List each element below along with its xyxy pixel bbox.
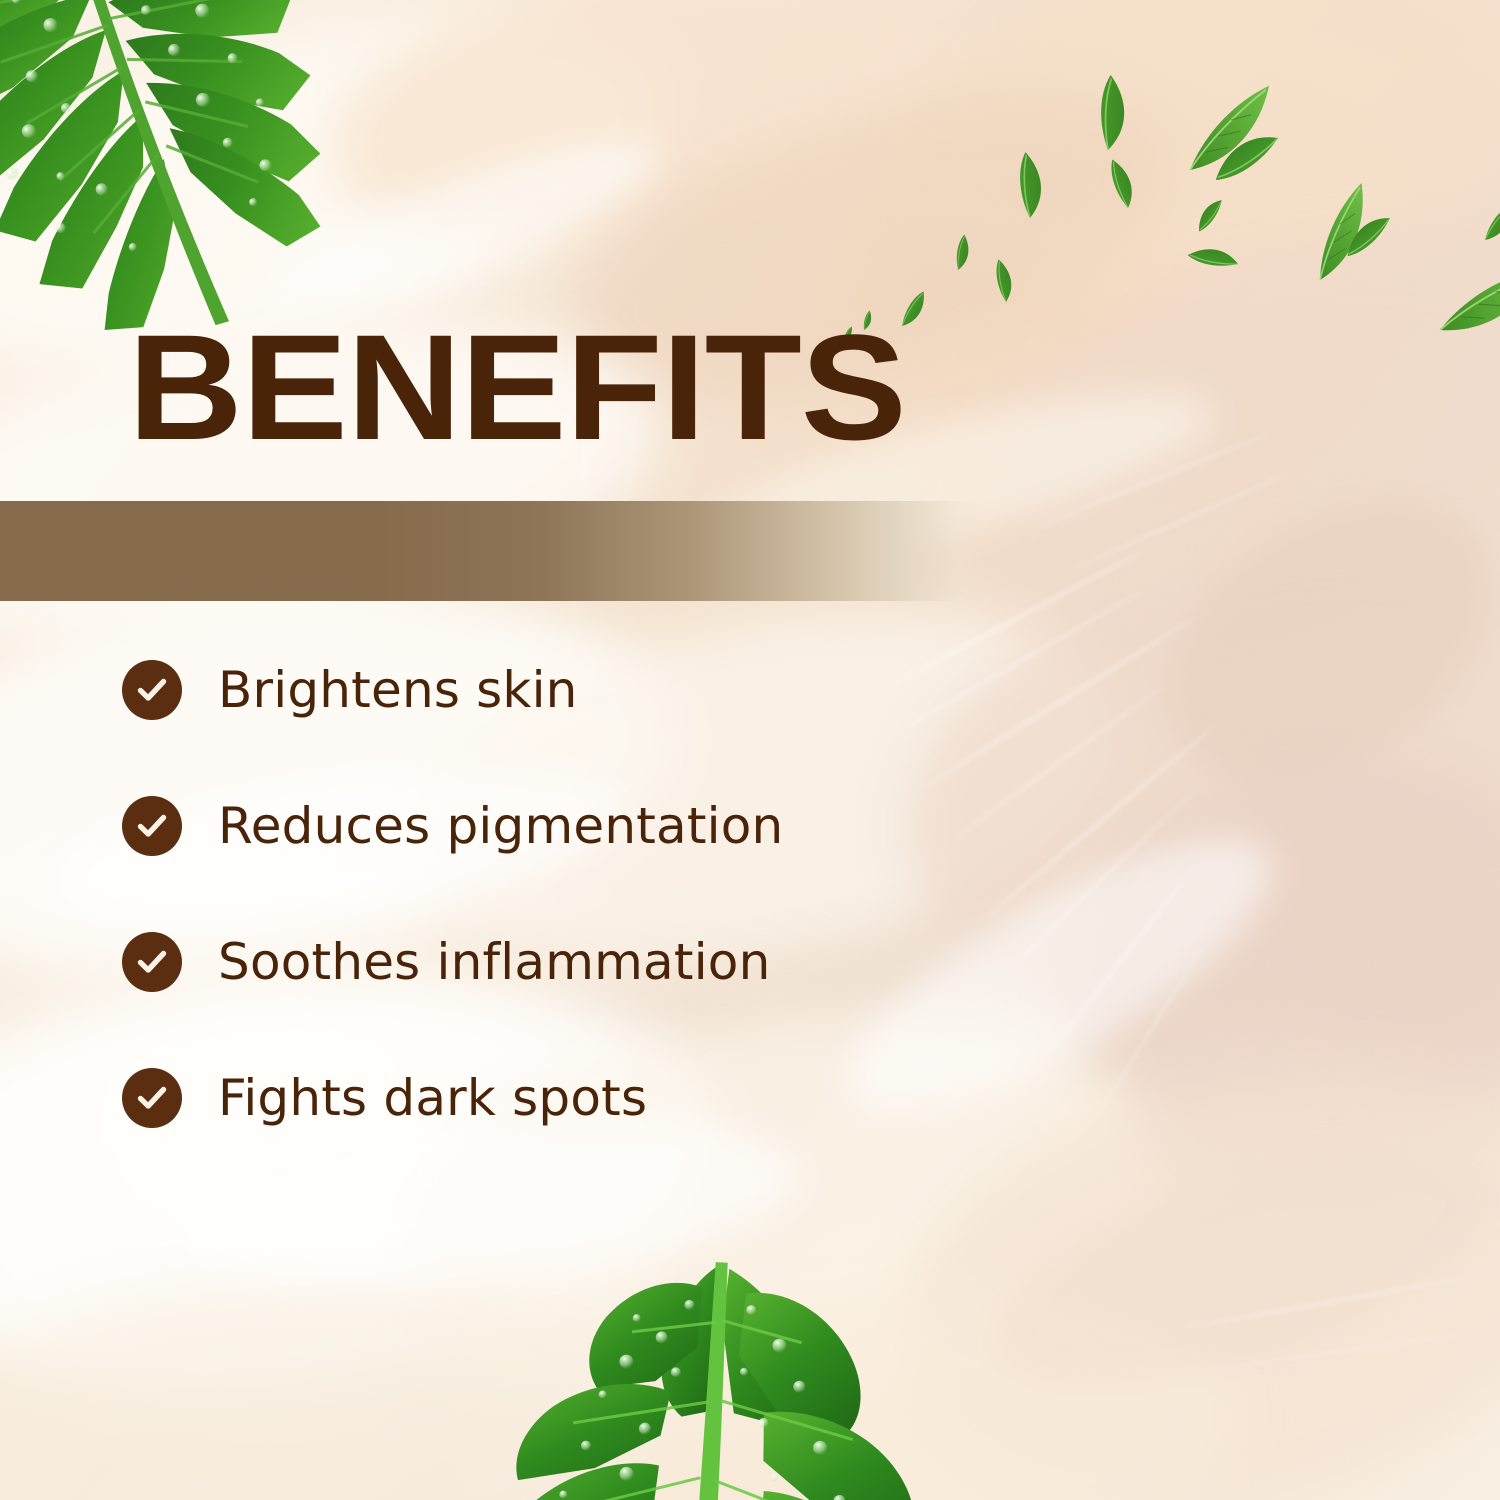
check-circle-icon (122, 796, 182, 856)
infographic-canvas: BENEFITS Brightens skin Reduces pigmenta… (0, 0, 1500, 1500)
scattered-leaves-icon (830, 40, 1500, 340)
page-title: BENEFITS (128, 312, 906, 462)
list-item: Soothes inflammation (122, 932, 1122, 992)
list-item: Brightens skin (122, 660, 1122, 720)
benefit-label: Soothes inflammation (218, 932, 770, 992)
check-circle-icon (122, 660, 182, 720)
gradient-divider-bar (0, 501, 986, 601)
benefit-label: Brightens skin (218, 660, 578, 720)
benefit-label: Reduces pigmentation (218, 796, 783, 856)
list-item: Fights dark spots (122, 1068, 1122, 1128)
check-circle-icon (122, 932, 182, 992)
benefit-label: Fights dark spots (218, 1068, 647, 1128)
benefits-list: Brightens skin Reduces pigmentation Soot… (122, 660, 1122, 1128)
monstera-leaf-icon (470, 1262, 940, 1500)
list-item: Reduces pigmentation (122, 796, 1122, 856)
check-circle-icon (122, 1068, 182, 1128)
